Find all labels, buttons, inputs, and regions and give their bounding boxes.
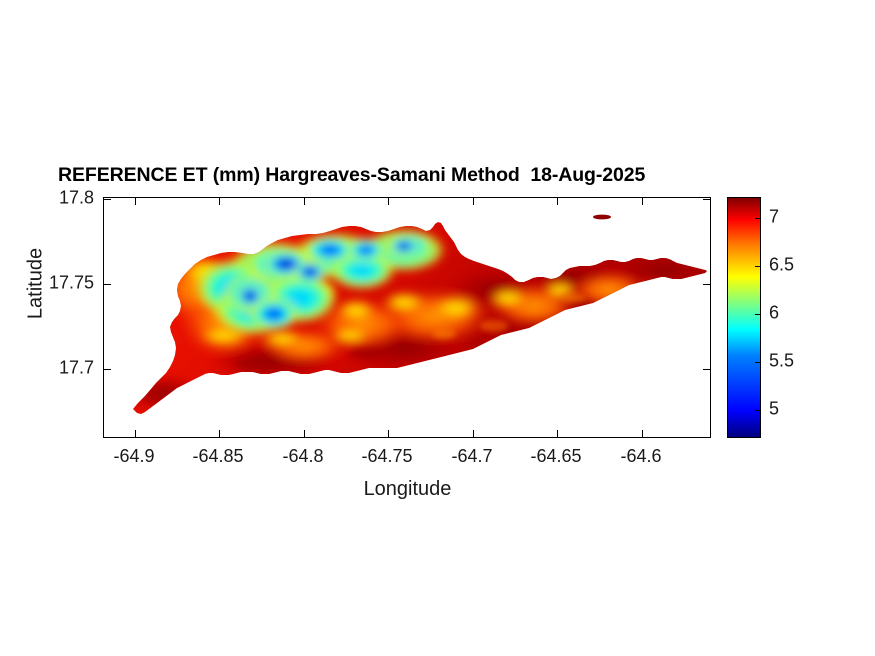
x-tick-label-5: -64.65 <box>530 446 581 467</box>
y-tick-label-0: 17.7 <box>48 358 94 379</box>
x-tick-label-1: -64.85 <box>192 446 243 467</box>
x-tick-top-2 <box>304 198 305 205</box>
colorbar-label-0: 5 <box>769 399 779 420</box>
x-tick-top-4 <box>473 198 474 205</box>
x-tick-3 <box>388 430 389 437</box>
y-tick-0 <box>104 369 111 370</box>
x-axis-label: Longitude <box>0 478 815 501</box>
x-tick-2 <box>304 430 305 437</box>
colorbar-label-2: 6 <box>769 303 779 324</box>
page-title: REFERENCE ET (mm) Hargreaves-Samani Meth… <box>58 164 645 187</box>
st-croix-et-raster <box>104 198 710 437</box>
y-tick-right-0 <box>703 369 710 370</box>
x-tick-top-5 <box>557 198 558 205</box>
offshore-cay <box>584 210 624 226</box>
colorbar-tick-5_5 <box>755 362 761 363</box>
colorbar-label-1: 5.5 <box>769 351 794 372</box>
y-tick-2 <box>104 199 111 200</box>
x-tick-label-3: -64.75 <box>361 446 412 467</box>
y-tick-right-2 <box>703 199 710 200</box>
colorbar-tick-5 <box>755 410 761 411</box>
figure-canvas: REFERENCE ET (mm) Hargreaves-Samani Meth… <box>0 0 875 656</box>
map-axes <box>103 197 711 438</box>
x-tick-1 <box>219 430 220 437</box>
x-tick-label-6: -64.6 <box>620 446 661 467</box>
x-tick-0 <box>135 430 136 437</box>
colorbar-tick-6 <box>755 314 761 315</box>
x-tick-label-0: -64.9 <box>113 446 154 467</box>
et-heatmap-layer <box>104 198 710 437</box>
x-tick-label-2: -64.8 <box>282 446 323 467</box>
x-tick-4 <box>473 430 474 437</box>
colorbar-label-4: 7 <box>769 207 779 228</box>
x-tick-top-3 <box>388 198 389 205</box>
island-raster <box>104 198 710 437</box>
colorbar-tick-6_5 <box>755 266 761 267</box>
y-tick-1 <box>104 284 111 285</box>
x-tick-top-1 <box>219 198 220 205</box>
x-tick-6 <box>642 430 643 437</box>
colorbar-tick-7 <box>755 218 761 219</box>
y-tick-label-1: 17.75 <box>36 273 94 294</box>
x-tick-top-0 <box>135 198 136 205</box>
y-tick-label-2: 17.8 <box>48 188 94 209</box>
x-tick-5 <box>557 430 558 437</box>
x-tick-top-6 <box>642 198 643 205</box>
colorbar-label-3: 6.5 <box>769 255 794 276</box>
x-tick-label-4: -64.7 <box>451 446 492 467</box>
colorbar[interactable] <box>727 197 761 438</box>
y-tick-right-1 <box>703 284 710 285</box>
